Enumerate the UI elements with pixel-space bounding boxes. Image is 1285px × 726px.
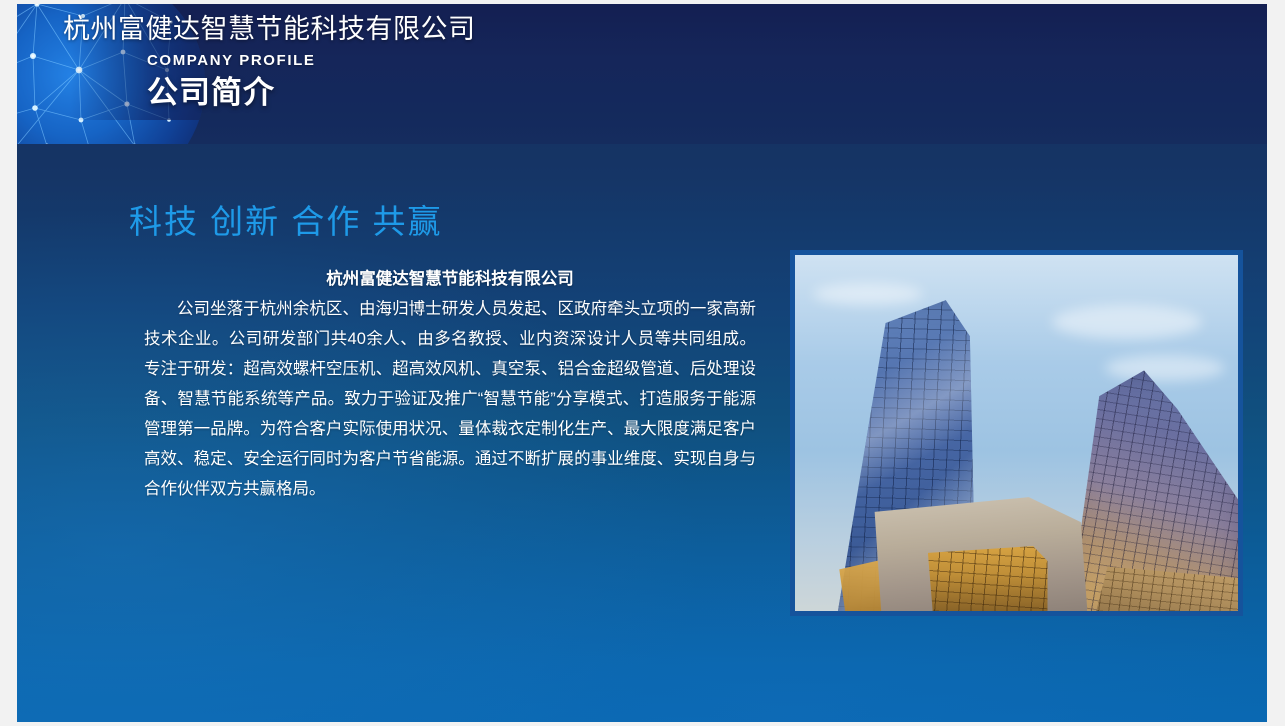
building-photo xyxy=(795,255,1238,611)
company-introduction-paragraph: 公司坐落于杭州余杭区、由海归博士研发人员发起、区政府牵头立项的一家高新技术企业。… xyxy=(144,294,756,504)
slide-header-banner: 杭州富健达智慧节能科技有限公司 COMPANY PROFILE 公司简介 xyxy=(17,4,1267,144)
cloud-shape xyxy=(1105,355,1225,381)
section-title-en: COMPANY PROFILE xyxy=(147,50,476,72)
organization-name: 杭州富健达智慧节能科技有限公司 xyxy=(144,265,756,293)
company-profile-text-block: 杭州富健达智慧节能科技有限公司 公司坐落于杭州余杭区、由海归博士研发人员发起、区… xyxy=(144,265,756,504)
slide-canvas: 杭州富健达智慧节能科技有限公司 COMPANY PROFILE 公司简介 科技 … xyxy=(17,4,1267,722)
podium-entrance-grid xyxy=(928,543,1048,611)
building-photo-frame xyxy=(790,250,1243,616)
header-text-block: 杭州富健达智慧节能科技有限公司 COMPANY PROFILE 公司简介 xyxy=(63,13,476,113)
company-title: 杭州富健达智慧节能科技有限公司 xyxy=(63,13,476,46)
podium-entrance xyxy=(928,543,1048,611)
cloud-shape xyxy=(1052,305,1202,339)
section-title-cn: 公司简介 xyxy=(147,73,476,113)
cloud-shape xyxy=(813,283,923,305)
slogan-text: 科技 创新 合作 共赢 xyxy=(129,200,443,244)
